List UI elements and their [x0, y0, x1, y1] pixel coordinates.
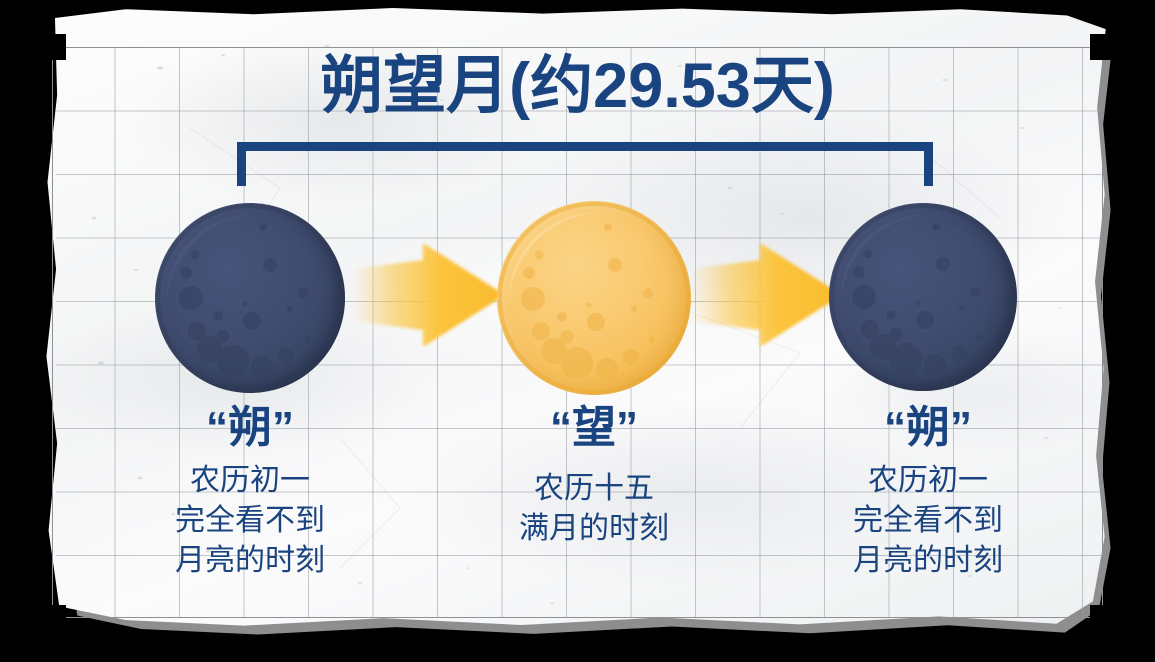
crater-texture-icon	[155, 203, 345, 393]
detail-line: 月亮的时刻	[100, 541, 400, 581]
detail-line: 农历初一	[100, 461, 400, 501]
caption-new-moon-start: “朔” 农历初一 完全看不到 月亮的时刻	[100, 405, 400, 581]
detail-line: 农历十五	[444, 469, 744, 509]
moon-full-moon	[497, 201, 691, 395]
detail-line: 完全看不到	[778, 501, 1078, 541]
corner-marker-bottom-left	[40, 605, 66, 631]
crater-texture-icon	[829, 203, 1017, 391]
phase-detail-full-moon: 农历十五 满月的时刻	[444, 469, 744, 549]
moon-new-moon-end	[829, 203, 1017, 391]
phase-detail-new-moon-end: 农历初一 完全看不到 月亮的时刻	[778, 461, 1078, 581]
phase-label-new-moon-end: “朔”	[778, 405, 1078, 451]
detail-line: 完全看不到	[100, 501, 400, 541]
phase-label-new-moon-start: “朔”	[100, 405, 400, 451]
right-arrow-icon-full-to-new	[690, 243, 842, 347]
detail-line: 农历初一	[778, 461, 1078, 501]
corner-marker-bottom-right	[1090, 605, 1116, 631]
phase-label-full-moon: “望”	[444, 405, 744, 451]
crater-texture-icon	[497, 201, 691, 395]
caption-new-moon-end: “朔” 农历初一 完全看不到 月亮的时刻	[778, 405, 1078, 581]
right-arrow-icon-new-to-full	[353, 243, 505, 347]
detail-line: 月亮的时刻	[778, 541, 1078, 581]
detail-line: 满月的时刻	[444, 509, 744, 549]
phase-detail-new-moon-start: 农历初一 完全看不到 月亮的时刻	[100, 461, 400, 581]
moon-new-moon-start	[155, 203, 345, 393]
caption-full-moon: “望” 农历十五 满月的时刻	[444, 405, 744, 549]
page-title: 朔望月(约29.53天)	[0, 55, 1155, 118]
poster-canvas: 朔望月(约29.53天)	[0, 0, 1155, 662]
